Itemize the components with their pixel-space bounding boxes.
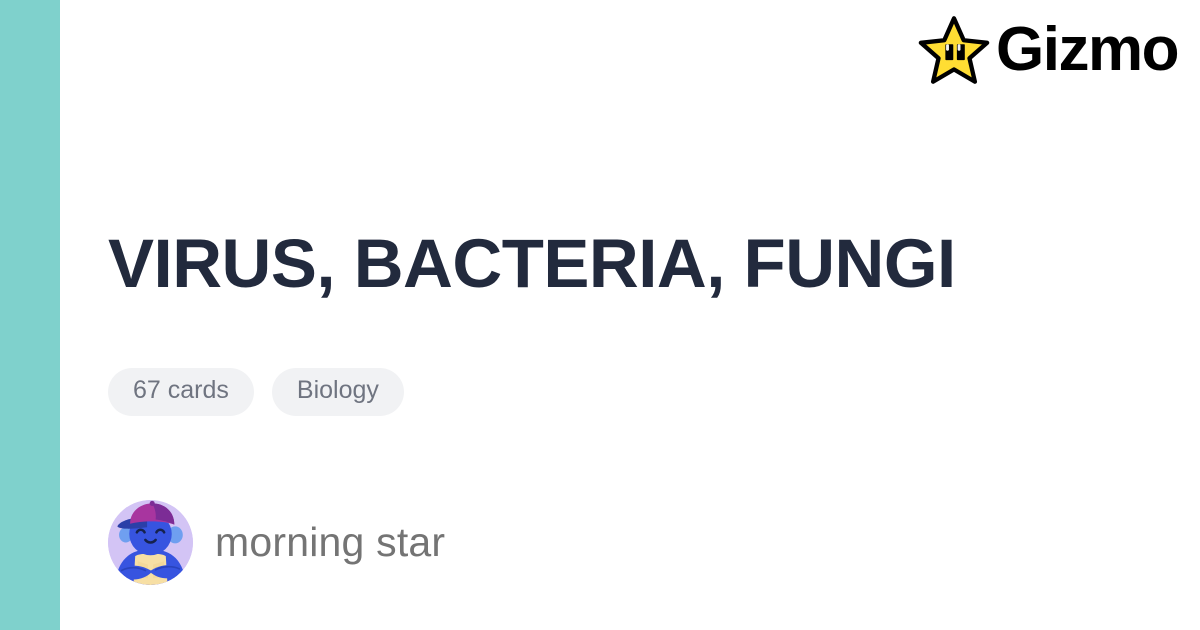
left-accent-stripe: [0, 0, 60, 630]
subject-badge: Biology: [272, 368, 404, 416]
deck-summary: VIRUS, BACTERIA, FUNGI 67 cards Biology: [108, 0, 1168, 630]
deck-meta-pills: 67 cards Biology: [108, 368, 404, 416]
page-title: VIRUS, BACTERIA, FUNGI: [108, 228, 956, 300]
author-row[interactable]: morning star: [108, 500, 445, 585]
author-name: morning star: [215, 522, 445, 563]
avatar: [108, 500, 193, 585]
card-count-badge: 67 cards: [108, 368, 254, 416]
